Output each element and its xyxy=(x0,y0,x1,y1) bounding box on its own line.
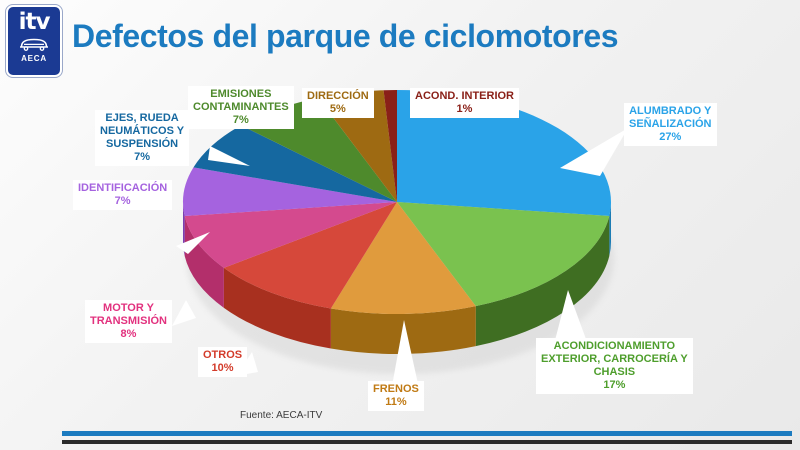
label-percent: 5% xyxy=(330,103,346,115)
label-line-2: NEUMÁTICOS Y xyxy=(100,125,184,137)
label-percent: 7% xyxy=(233,114,249,126)
label-percent: 8% xyxy=(121,328,137,340)
footer-bar-blue xyxy=(62,431,792,436)
label-line-2: SEÑALIZACIÓN xyxy=(629,118,712,130)
label-line-2: TRANSMISIÓN xyxy=(90,315,167,327)
label-line-1: ACONDICIONAMIENTO xyxy=(554,340,675,352)
label-percent: 17% xyxy=(603,379,625,391)
label-line-1: OTROS xyxy=(203,349,242,361)
label-line-2: EXTERIOR, CARROCERÍA Y xyxy=(541,353,688,365)
label-percent: 7% xyxy=(115,195,131,207)
slice-label-frenos: FRENOS 11% xyxy=(368,381,424,411)
label-percent: 27% xyxy=(659,131,681,143)
slice-label-direccion: DIRECCIÓN 5% xyxy=(302,88,374,118)
label-percent: 7% xyxy=(134,151,150,163)
label-line-1: IDENTIFICACIÓN xyxy=(78,182,167,194)
footer-bar-dark xyxy=(62,440,792,444)
slice-label-otros: OTROS 10% xyxy=(198,347,247,377)
slice-label-motor-transmision: MOTOR Y TRANSMISIÓN 8% xyxy=(85,300,172,343)
slice-label-acond-interior: ACOND. INTERIOR 1% xyxy=(410,88,519,118)
slice-label-ejes-ruedas: EJES, RUEDA NEUMÁTICOS Y SUSPENSIÓN 7% xyxy=(95,110,189,166)
label-line-1: ACOND. INTERIOR xyxy=(415,90,514,102)
label-line-1: EMISIONES xyxy=(210,88,271,100)
slice-label-alumbrado: ALUMBRADO Y SEÑALIZACIÓN 27% xyxy=(624,103,717,146)
pie-chart: ALUMBRADO Y SEÑALIZACIÓN 27% ACONDICIONA… xyxy=(0,0,800,450)
label-line-1: DIRECCIÓN xyxy=(307,90,369,102)
source-note: Fuente: AECA-ITV xyxy=(240,410,322,421)
slice-label-emisiones-contaminantes: EMISIONES CONTAMINANTES 7% xyxy=(188,86,294,129)
slice-label-acondicionamiento-exterior: ACONDICIONAMIENTO EXTERIOR, CARROCERÍA Y… xyxy=(536,338,693,394)
label-line-3: CHASIS xyxy=(594,366,636,378)
label-percent: 1% xyxy=(457,103,473,115)
label-line-1: EJES, RUEDA xyxy=(105,112,178,124)
label-line-1: MOTOR Y xyxy=(103,302,154,314)
label-percent: 11% xyxy=(385,396,406,408)
label-line-1: FRENOS xyxy=(373,383,419,395)
slice-label-identificacion: IDENTIFICACIÓN 7% xyxy=(73,180,172,210)
label-line-3: SUSPENSIÓN xyxy=(106,138,178,150)
label-line-1: ALUMBRADO Y xyxy=(629,105,711,117)
label-percent: 10% xyxy=(212,362,234,374)
label-line-2: CONTAMINANTES xyxy=(193,101,289,113)
